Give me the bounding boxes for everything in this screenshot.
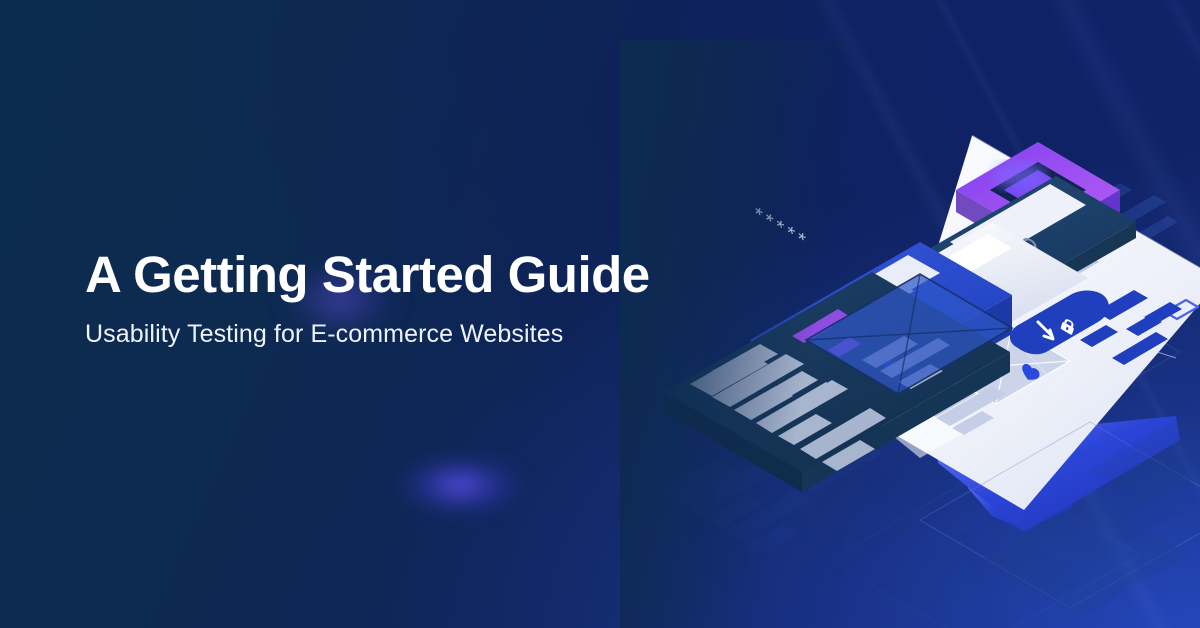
password-mask: *****	[751, 203, 811, 253]
device-corner-glow	[395, 455, 525, 515]
hero-banner: *****	[0, 0, 1200, 628]
isometric-illustration: *****	[620, 40, 1200, 628]
svg-text:*****: *****	[751, 203, 811, 253]
banner-copy: A Getting Started Guide Usability Testin…	[85, 246, 650, 350]
page-subtitle: Usability Testing for E-commerce Website…	[85, 318, 650, 350]
page-title: A Getting Started Guide	[85, 246, 650, 304]
